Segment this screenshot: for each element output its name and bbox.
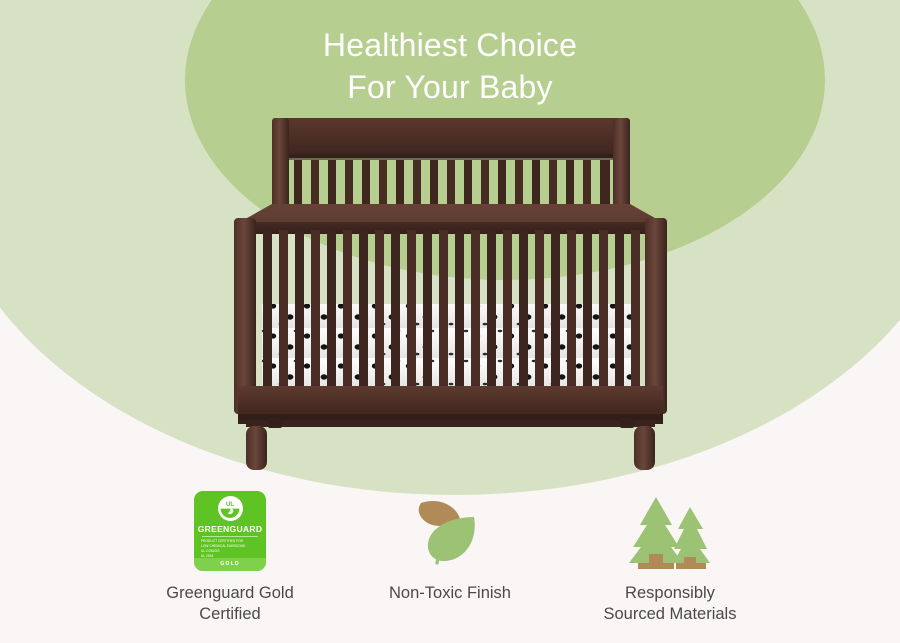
greenguard-card: UL GREENGUARD PRODUCT CERTIFIED FOR LOW … xyxy=(194,491,266,571)
stump-large xyxy=(649,554,663,563)
crib-leg-right xyxy=(634,426,655,470)
ul-monogram-icon: UL xyxy=(218,496,243,521)
tree-small-shape xyxy=(673,507,710,563)
crib-foot-block-left xyxy=(268,418,282,428)
badge-label-non-toxic: Non-Toxic Finish xyxy=(389,583,511,604)
crib-base-lip xyxy=(246,421,655,427)
badge-label-responsibly-sourced: Responsibly Sourced Materials xyxy=(604,583,737,625)
badge-non-toxic-finish: Non-Toxic Finish xyxy=(355,485,545,604)
crib-front-post-right xyxy=(645,218,667,414)
tree-large-shape xyxy=(629,497,683,563)
crib-headboard-post-right xyxy=(613,118,630,210)
two-leaves-icon xyxy=(408,485,492,571)
crib-leg-left xyxy=(246,426,267,470)
feature-badges: UL GREENGUARD PRODUCT CERTIFIED FOR LOW … xyxy=(0,485,900,625)
product-image-crib xyxy=(232,118,669,470)
greenguard-gold-certificate-icon: UL GREENGUARD PRODUCT CERTIFIED FOR LOW … xyxy=(194,485,266,571)
badge-greenguard-gold: UL GREENGUARD PRODUCT CERTIFIED FOR LOW … xyxy=(135,485,325,625)
log-small xyxy=(676,563,706,569)
crib-headboard-panel xyxy=(278,118,624,158)
greenguard-tier-text: GOLD xyxy=(220,561,239,567)
greenguard-fine-print: PRODUCT CERTIFIED FOR LOW CHEMICAL EMISS… xyxy=(201,539,259,559)
greenguard-brand-text: GREENGUARD xyxy=(198,524,263,534)
crib-headboard-post-left xyxy=(272,118,289,210)
crib-foot-block-right xyxy=(620,418,634,428)
pine-trees-with-logs-icon xyxy=(618,485,722,571)
badge-responsibly-sourced: Responsibly Sourced Materials xyxy=(575,485,765,625)
greenguard-divider xyxy=(202,536,258,537)
svg-text:UL: UL xyxy=(226,501,234,508)
promo-banner: Healthiest Choice For Your Baby xyxy=(0,0,900,643)
greenguard-tier-bar: GOLD xyxy=(194,558,266,571)
log-large xyxy=(638,563,674,569)
crib-headboard-slats xyxy=(294,160,610,206)
crib-front-post-left xyxy=(234,218,256,414)
badge-label-greenguard: Greenguard Gold Certified xyxy=(166,583,294,625)
stump-small xyxy=(684,557,696,563)
